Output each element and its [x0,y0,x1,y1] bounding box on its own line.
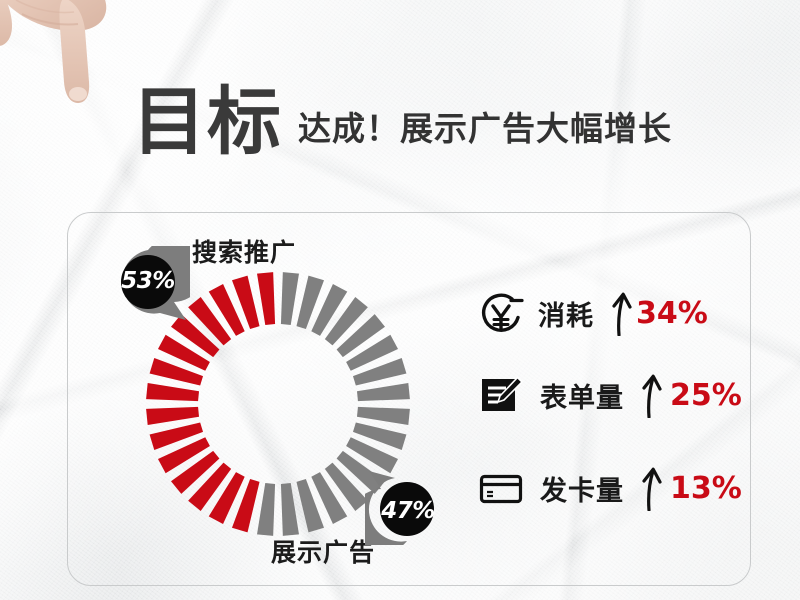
status-badge-display: 47% [365,467,443,545]
page-title-main: 目标 [132,88,282,156]
credit-card-icon [478,465,524,511]
donut-segment [281,272,299,325]
status-badge-display-value: 47% [369,472,447,550]
metric-label: 表单量 [540,376,624,415]
donut-segment [146,407,199,425]
page-title-sub: 达成！展示广告大幅增长 [298,102,672,156]
form-pencil-icon [478,372,524,418]
metric-row: 消耗 34% [478,285,708,341]
arrow-up-icon [638,372,664,418]
metric-row: 表单量 25% [478,367,742,423]
arrow-up-icon [638,465,664,511]
metric-value: 34% [636,296,708,331]
status-badge-search-value: 53% [109,242,187,320]
metric-value: 25% [670,378,742,413]
donut-segment [281,483,299,536]
donut-segment [357,383,410,401]
status-badge-search: 53% [112,246,190,324]
donut-segment [146,383,199,401]
series-label-search: 搜索推广 [192,233,296,269]
donut-segment [257,483,275,536]
metric-label: 消耗 [538,294,594,333]
donut-segment [357,407,410,425]
metric-label: 发卡量 [540,469,624,508]
yuan-circle-icon [478,290,524,336]
metric-value: 13% [670,471,742,506]
metric-row: 发卡量 13% [478,460,742,516]
series-label-display: 展示广告 [271,533,375,569]
page-title: 目标 达成！展示广告大幅增长 [132,88,672,156]
arrow-up-icon [608,290,634,336]
donut-segment [257,272,275,325]
